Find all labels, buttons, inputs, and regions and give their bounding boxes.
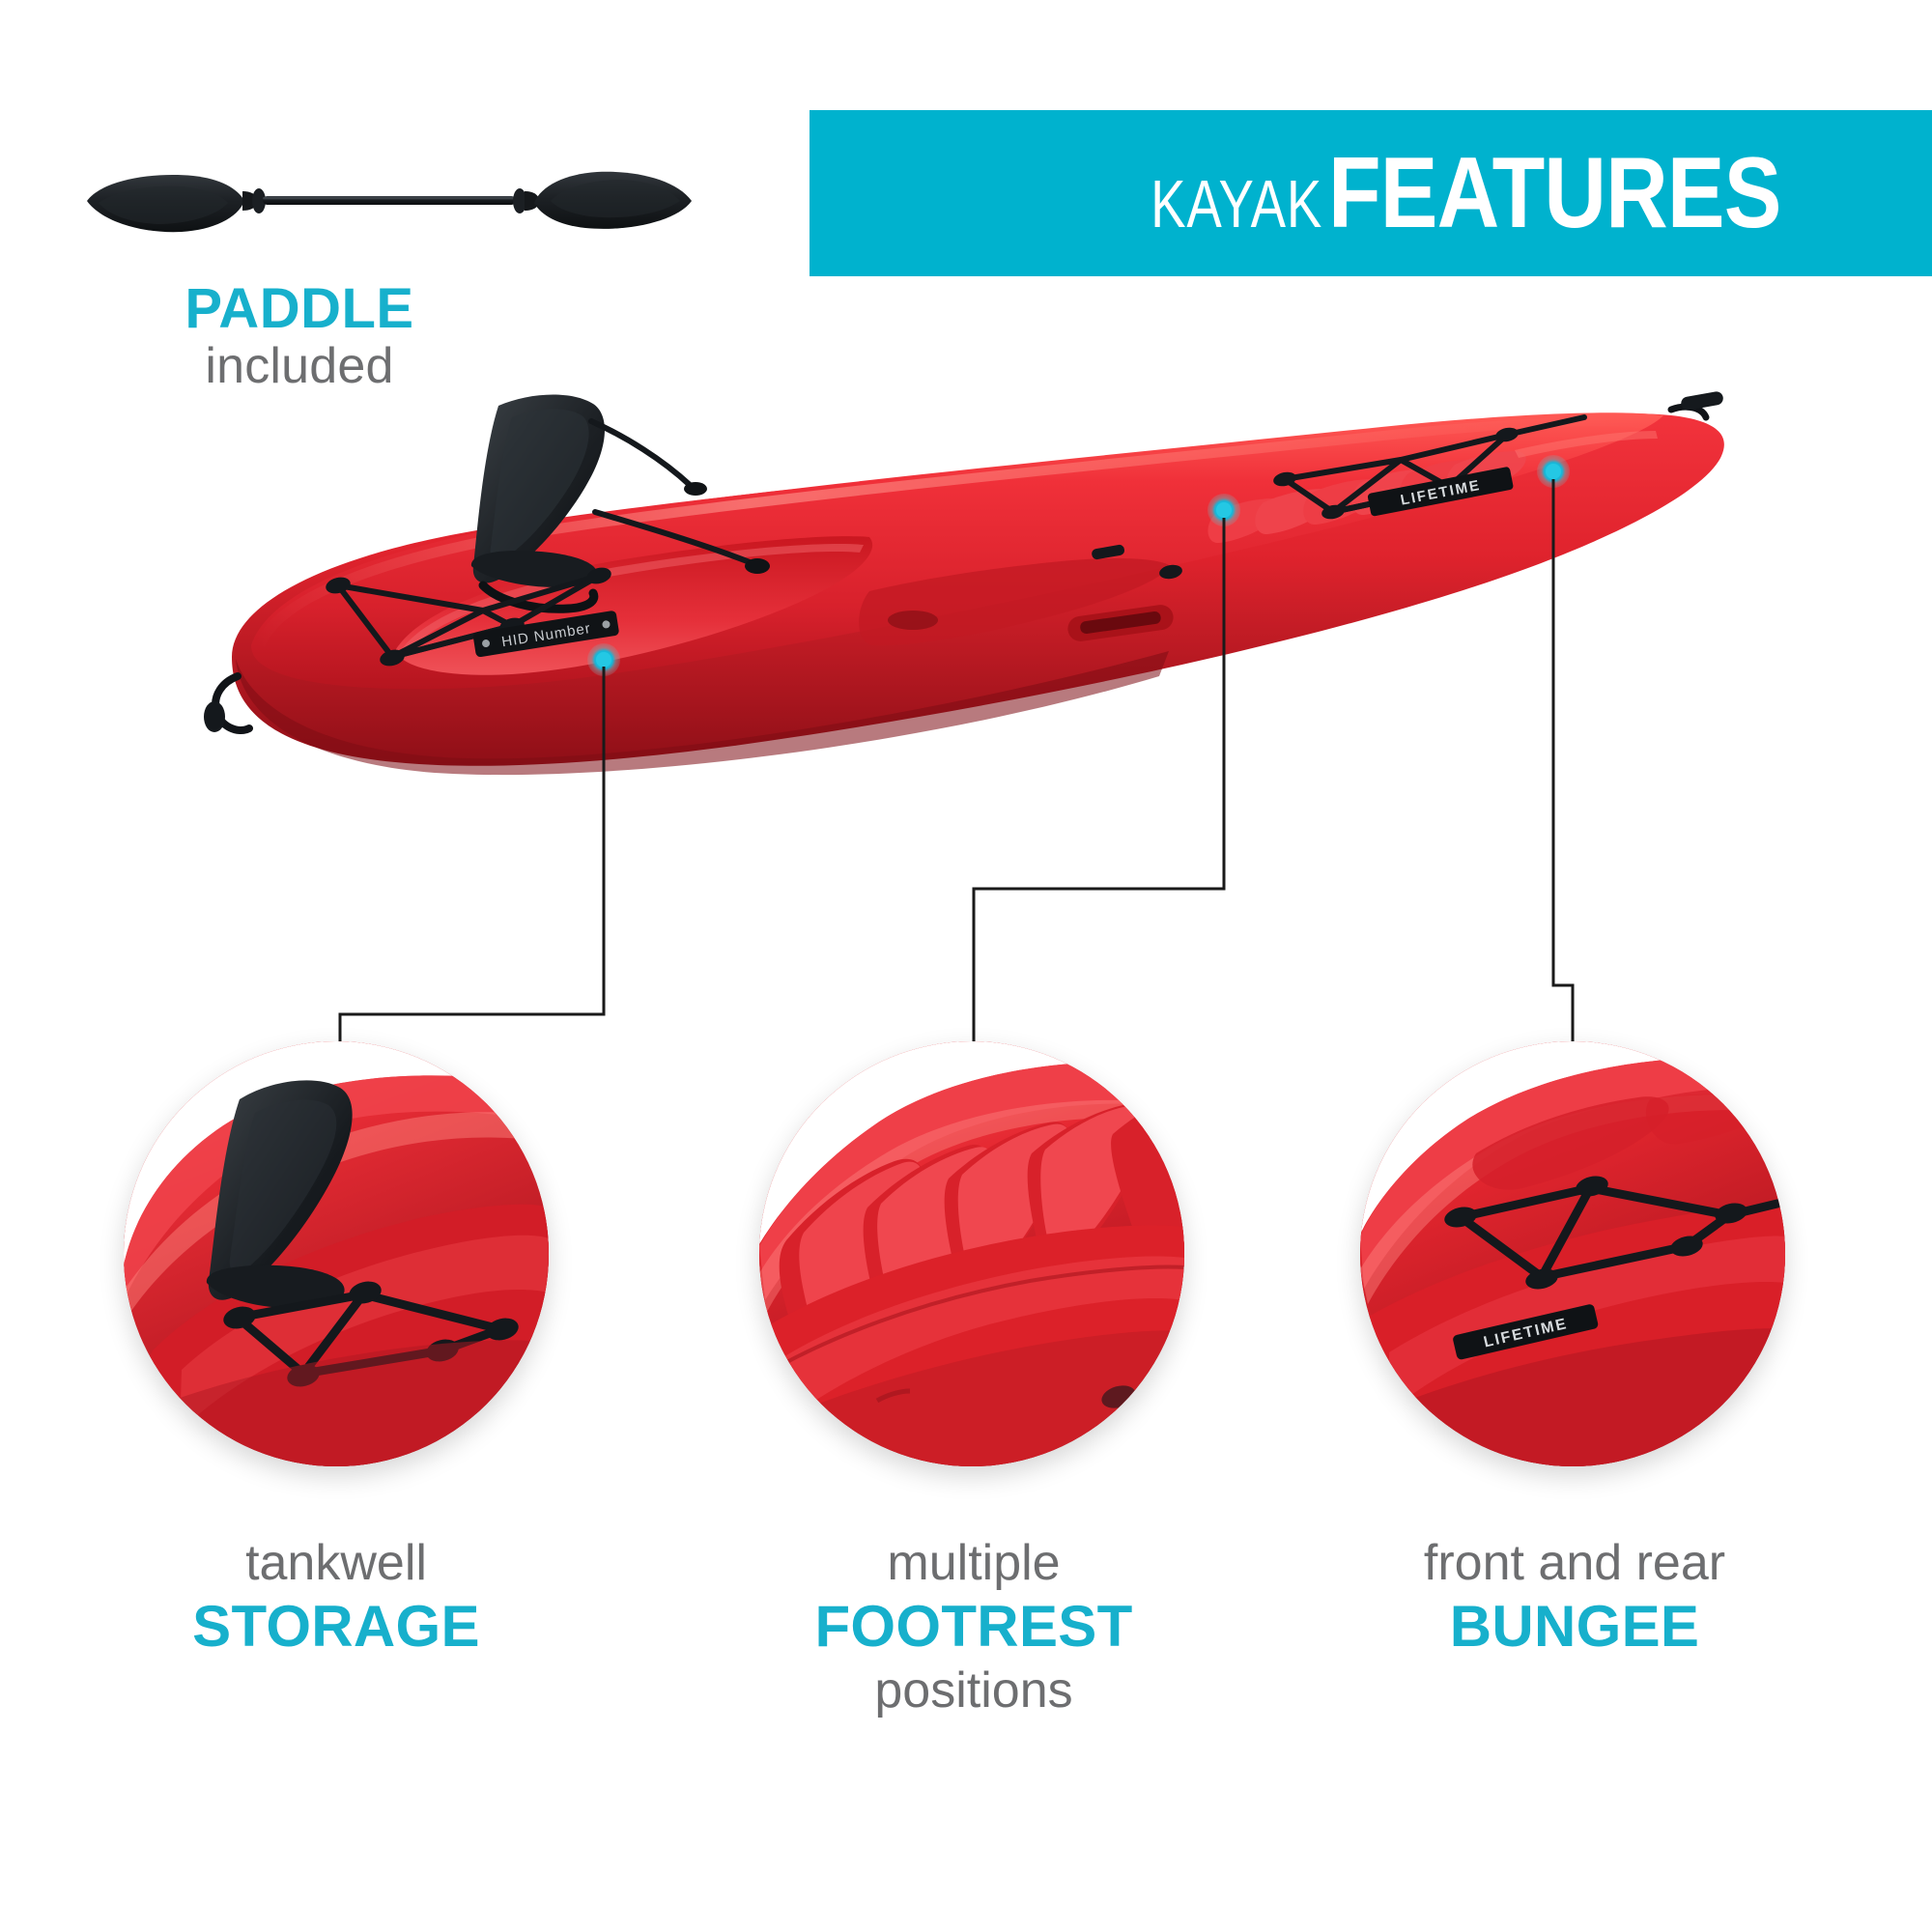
feature-caption-soft-bottom: positions [742, 1662, 1206, 1720]
feature-caption-soft-top: multiple [742, 1534, 1206, 1593]
feature-image-footrest [759, 1041, 1184, 1466]
callout-dot-footrest[interactable] [1207, 494, 1240, 526]
callout-dot-bungee[interactable] [1537, 455, 1570, 488]
kayak-main-image: HID Number LIFETIME [193, 367, 1739, 831]
header-title-bold: FEATURES [1328, 143, 1780, 243]
paddle-icon [85, 162, 694, 249]
paddle-label-strong: PADDLE [48, 280, 551, 338]
callout-dot-core [1546, 464, 1561, 479]
feature-image-bungee: LIFETIME [1360, 1041, 1785, 1466]
header-banner: KAYAK FEATURES [810, 110, 1932, 276]
feature-caption-strong: STORAGE [104, 1593, 568, 1662]
header-title-light: KAYAK [1151, 170, 1322, 238]
feature-caption-storage: tankwell STORAGE [104, 1534, 568, 1662]
feature-caption-footrest: multiple FOOTREST positions [742, 1534, 1206, 1721]
header-title: KAYAK FEATURES [1102, 143, 1855, 243]
callout-dot-core [596, 652, 611, 668]
feature-image-storage [124, 1041, 549, 1466]
callout-dot-storage[interactable] [587, 643, 620, 676]
feature-caption-strong: BUNGEE [1343, 1593, 1806, 1662]
infographic-canvas: KAYAK FEATURES [0, 0, 1932, 1932]
feature-caption-soft-top: tankwell [104, 1534, 568, 1593]
callout-dot-core [1216, 502, 1232, 518]
feature-caption-bungee: front and rear BUNGEE [1343, 1534, 1806, 1662]
feature-caption-strong: FOOTREST [742, 1593, 1206, 1662]
feature-caption-soft-top: front and rear [1343, 1534, 1806, 1593]
